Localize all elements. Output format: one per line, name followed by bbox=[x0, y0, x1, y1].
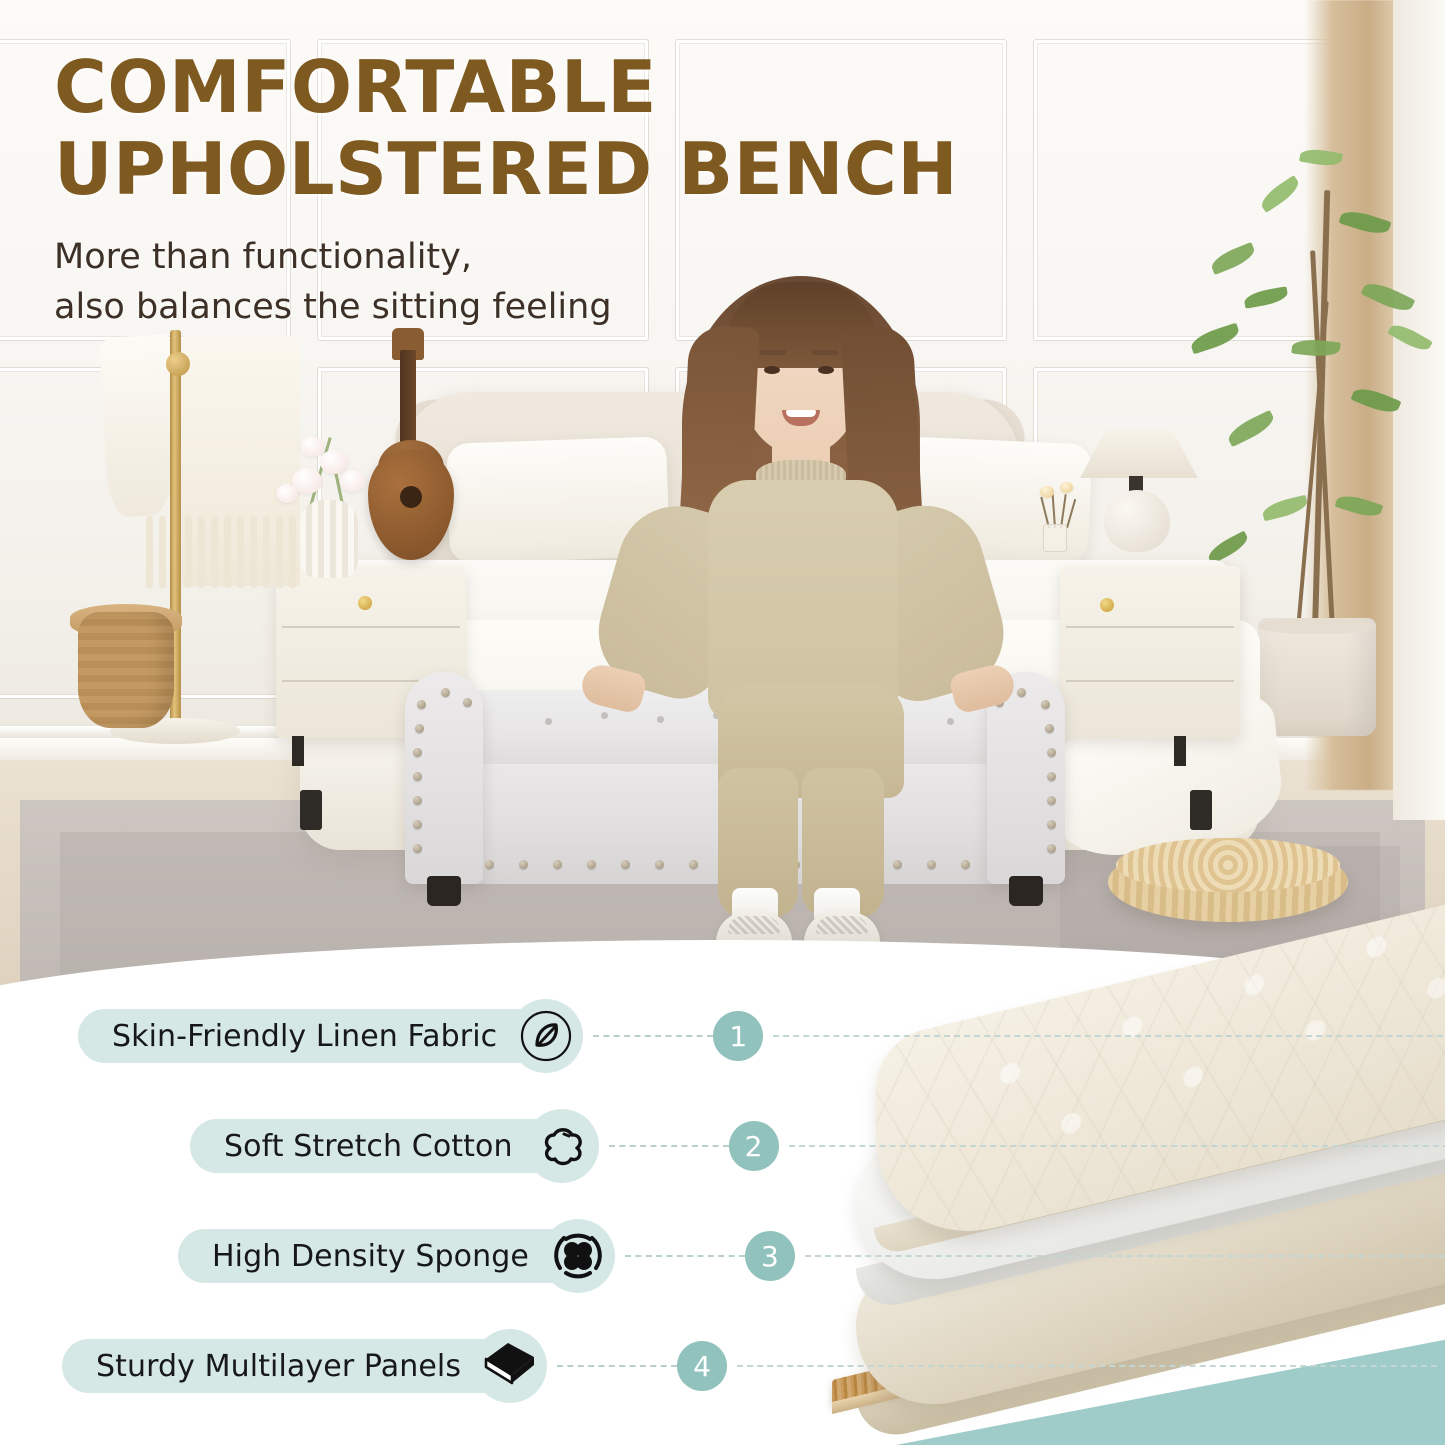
connector-dash-4-right bbox=[737, 1365, 1437, 1367]
coat-rack-knob bbox=[166, 352, 190, 376]
orchid-bloom bbox=[276, 484, 298, 503]
nightstand-right bbox=[1060, 566, 1240, 738]
sponge-quadrant-icon bbox=[541, 1219, 615, 1293]
plant-pot bbox=[1258, 618, 1376, 736]
connector-dash-3 bbox=[625, 1255, 745, 1257]
eyebrow bbox=[760, 350, 786, 355]
feature-badge-2: 2 bbox=[729, 1121, 779, 1171]
cotton-cloud-icon bbox=[525, 1109, 599, 1183]
subheadline-line-2: also balances the sitting feeling bbox=[54, 282, 1084, 332]
nightstand-leg bbox=[1174, 736, 1186, 766]
headline-line-2: UPHOLSTERED BENCH bbox=[54, 128, 1084, 210]
drawer-divider bbox=[282, 626, 460, 628]
feature-row-4[interactable]: Sturdy Multilayer Panels 4 bbox=[62, 1338, 1437, 1394]
sweater-torso bbox=[708, 480, 898, 720]
subheadline-line-1: More than functionality, bbox=[54, 232, 1084, 282]
connector-dash-3-right bbox=[805, 1255, 1445, 1257]
orchid-vase bbox=[300, 500, 358, 578]
connector-dash-4 bbox=[557, 1365, 677, 1367]
feature-label-1: Skin-Friendly Linen Fabric bbox=[112, 1019, 497, 1054]
feature-row-2[interactable]: Soft Stretch Cotton 2 bbox=[190, 1118, 1445, 1174]
headline-block: COMFORTABLE UPHOLSTERED BENCH More than … bbox=[54, 46, 1084, 332]
product-infographic: COMFORTABLE UPHOLSTERED BENCH More than … bbox=[0, 0, 1445, 1445]
dried-flower bbox=[1040, 486, 1054, 498]
feature-badge-4: 4 bbox=[677, 1341, 727, 1391]
ukulele-soundhole bbox=[400, 486, 422, 508]
feature-pill-2: Soft Stretch Cotton bbox=[190, 1119, 571, 1173]
eyebrow bbox=[812, 350, 838, 355]
feature-label-3: High Density Sponge bbox=[212, 1239, 529, 1274]
drawer-divider bbox=[1066, 626, 1234, 628]
feature-pill-3: High Density Sponge bbox=[178, 1229, 587, 1283]
headline-line-1: COMFORTABLE bbox=[54, 46, 1084, 128]
woven-basket bbox=[78, 612, 174, 728]
drawer-divider bbox=[1066, 680, 1234, 682]
nightstand-leg bbox=[292, 736, 304, 766]
feature-pill-1: Skin-Friendly Linen Fabric bbox=[78, 1009, 555, 1063]
model-person bbox=[590, 268, 1010, 908]
bedroom-photo-scene: COMFORTABLE UPHOLSTERED BENCH More than … bbox=[0, 0, 1445, 1000]
orchid-bloom bbox=[320, 450, 348, 474]
feature-row-3[interactable]: High Density Sponge 3 bbox=[178, 1228, 1445, 1284]
dried-flower bbox=[1060, 482, 1073, 493]
feature-badge-3: 3 bbox=[745, 1231, 795, 1281]
eye bbox=[764, 366, 780, 374]
connector-dash-2-right bbox=[789, 1145, 1445, 1147]
eye bbox=[818, 366, 834, 374]
bench-foot bbox=[427, 876, 461, 906]
feature-label-4: Sturdy Multilayer Panels bbox=[96, 1349, 461, 1384]
reed-diffuser-bottle bbox=[1043, 524, 1067, 552]
plant-pot-rim bbox=[1258, 618, 1376, 634]
connector-dash-2 bbox=[609, 1145, 729, 1147]
bed-leg bbox=[300, 790, 322, 830]
panel-slab-icon bbox=[473, 1329, 547, 1403]
table-lamp-base bbox=[1104, 490, 1170, 552]
bench-foot bbox=[1009, 876, 1043, 906]
connector-dash-1-right bbox=[773, 1035, 1445, 1037]
bed-leg bbox=[1190, 790, 1212, 830]
feature-row-1[interactable]: Skin-Friendly Linen Fabric 1 bbox=[78, 1008, 1445, 1064]
orchid-bloom bbox=[300, 436, 324, 457]
leaf-icon bbox=[509, 999, 583, 1073]
woven-floor-pouf-top bbox=[1116, 838, 1340, 892]
drawer-knob bbox=[358, 596, 372, 610]
feature-label-2: Soft Stretch Cotton bbox=[224, 1129, 513, 1164]
connector-dash-1 bbox=[593, 1035, 713, 1037]
feature-pill-4: Sturdy Multilayer Panels bbox=[62, 1339, 519, 1393]
orchid-bloom bbox=[340, 470, 366, 492]
sheer-curtain bbox=[1393, 0, 1445, 820]
feature-badge-1: 1 bbox=[713, 1011, 763, 1061]
drawer-knob bbox=[1100, 598, 1114, 612]
teeth bbox=[786, 410, 816, 417]
